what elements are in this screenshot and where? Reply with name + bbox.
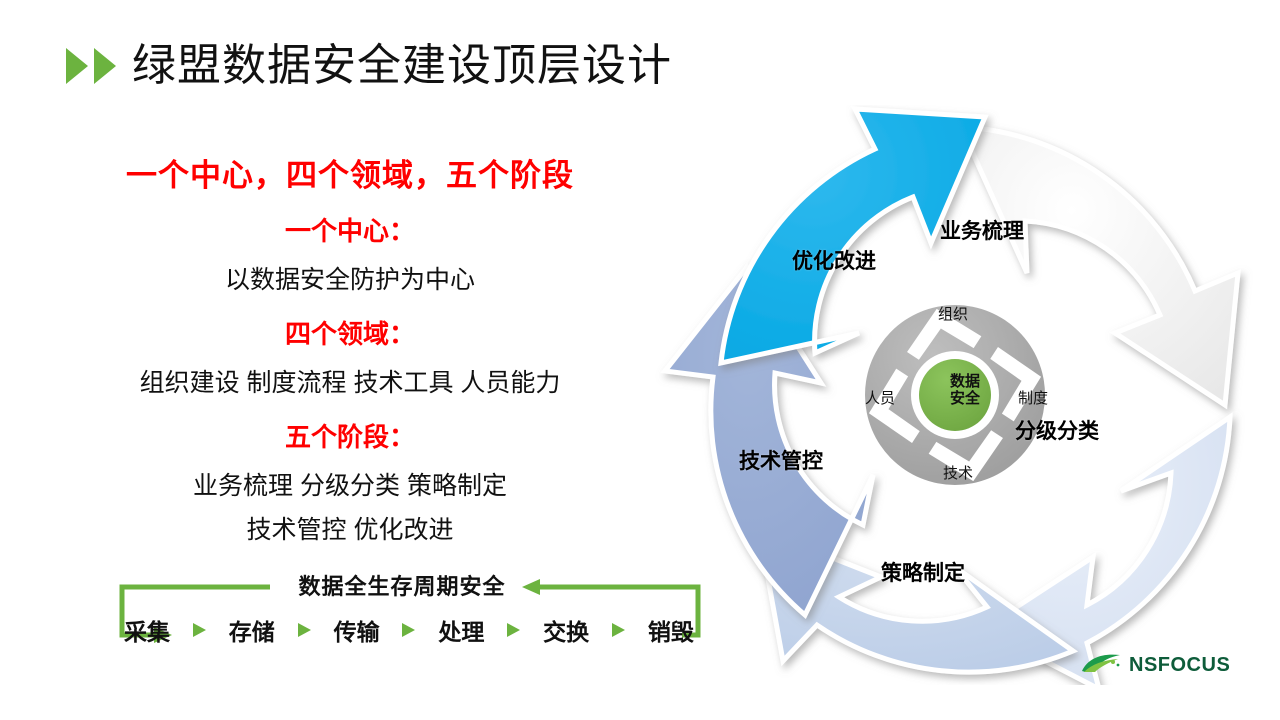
hub-label-top: 组织 [938, 303, 968, 324]
hub-center-line1: 数据 [932, 373, 998, 390]
cycle-label-youhua: 优化改进 [792, 245, 876, 275]
outline-body-five-phases-line1: 业务梳理 分级分类 策略制定 [30, 466, 670, 502]
outline-heading-one-center: 一个中心： [30, 211, 670, 248]
five-phase-cycle-diagram: 优化改进 业务梳理 分级分类 策略制定 技术管控 组织 制度 技术 人员 数据 … [655, 105, 1255, 685]
title-bullet-icons [66, 48, 116, 84]
outline-heading-four-domains: 四个领域： [30, 314, 670, 351]
logo-wordmark: NSFOCUS [1129, 654, 1230, 677]
data-lifecycle-diagram: 数据全生存周期安全 采集 存储 传输 处理 交换 销毁 [100, 565, 710, 661]
hub-label-left: 人员 [865, 387, 895, 408]
lifecycle-stage: 传输 [334, 613, 380, 647]
page-title: 绿盟数据安全建设顶层设计 [132, 44, 672, 88]
slide-canvas: 绿盟数据安全建设顶层设计 一个中心，四个领域，五个阶段 一个中心： 以数据安全防… [0, 0, 1280, 720]
hub-center-label: 数据 安全 [932, 373, 998, 408]
lifecycle-stage: 处理 [438, 613, 484, 647]
arrow-right-icon [507, 623, 520, 637]
cycle-label-celue: 策略制定 [881, 557, 965, 587]
lifecycle-stage: 交换 [543, 613, 589, 647]
lifecycle-title: 数据全生存周期安全 [278, 569, 526, 601]
lifecycle-stage-list: 采集 存储 传输 处理 交换 销毁 [124, 613, 694, 647]
triangle-right-icon [66, 48, 88, 84]
outline-body-one-center: 以数据安全防护为中心 [30, 260, 670, 296]
cycle-label-jishu: 技术管控 [739, 445, 823, 475]
outline-heading-five-phases: 五个阶段： [30, 417, 670, 454]
outline-body-five-phases-line2: 技术管控 优化改进 [30, 510, 670, 546]
hub-label-bottom: 技术 [943, 462, 973, 483]
nsfocus-logo-icon [1080, 652, 1124, 678]
slide-title-row: 绿盟数据安全建设顶层设计 [66, 44, 672, 88]
arrow-right-icon [193, 623, 206, 637]
outline-body-four-domains: 组织建设 制度流程 技术工具 人员能力 [30, 363, 670, 399]
arrow-right-icon [612, 623, 625, 637]
cycle-label-yewu: 业务梳理 [940, 215, 1024, 245]
hub-label-right: 制度 [1018, 387, 1048, 408]
triangle-right-icon [94, 48, 116, 84]
brand-logo: NSFOCUS [1080, 652, 1230, 678]
arrow-right-icon [298, 623, 311, 637]
outline-column: 一个中心，四个领域，五个阶段 一个中心： 以数据安全防护为中心 四个领域： 组织… [30, 150, 670, 564]
lifecycle-stage: 采集 [124, 613, 170, 647]
lifecycle-stage: 存储 [229, 613, 275, 647]
outline-headline: 一个中心，四个领域，五个阶段 [30, 150, 670, 195]
hub-center-line2: 安全 [932, 390, 998, 407]
arrow-right-icon [402, 623, 415, 637]
cycle-label-fenji: 分级分类 [1015, 415, 1099, 445]
